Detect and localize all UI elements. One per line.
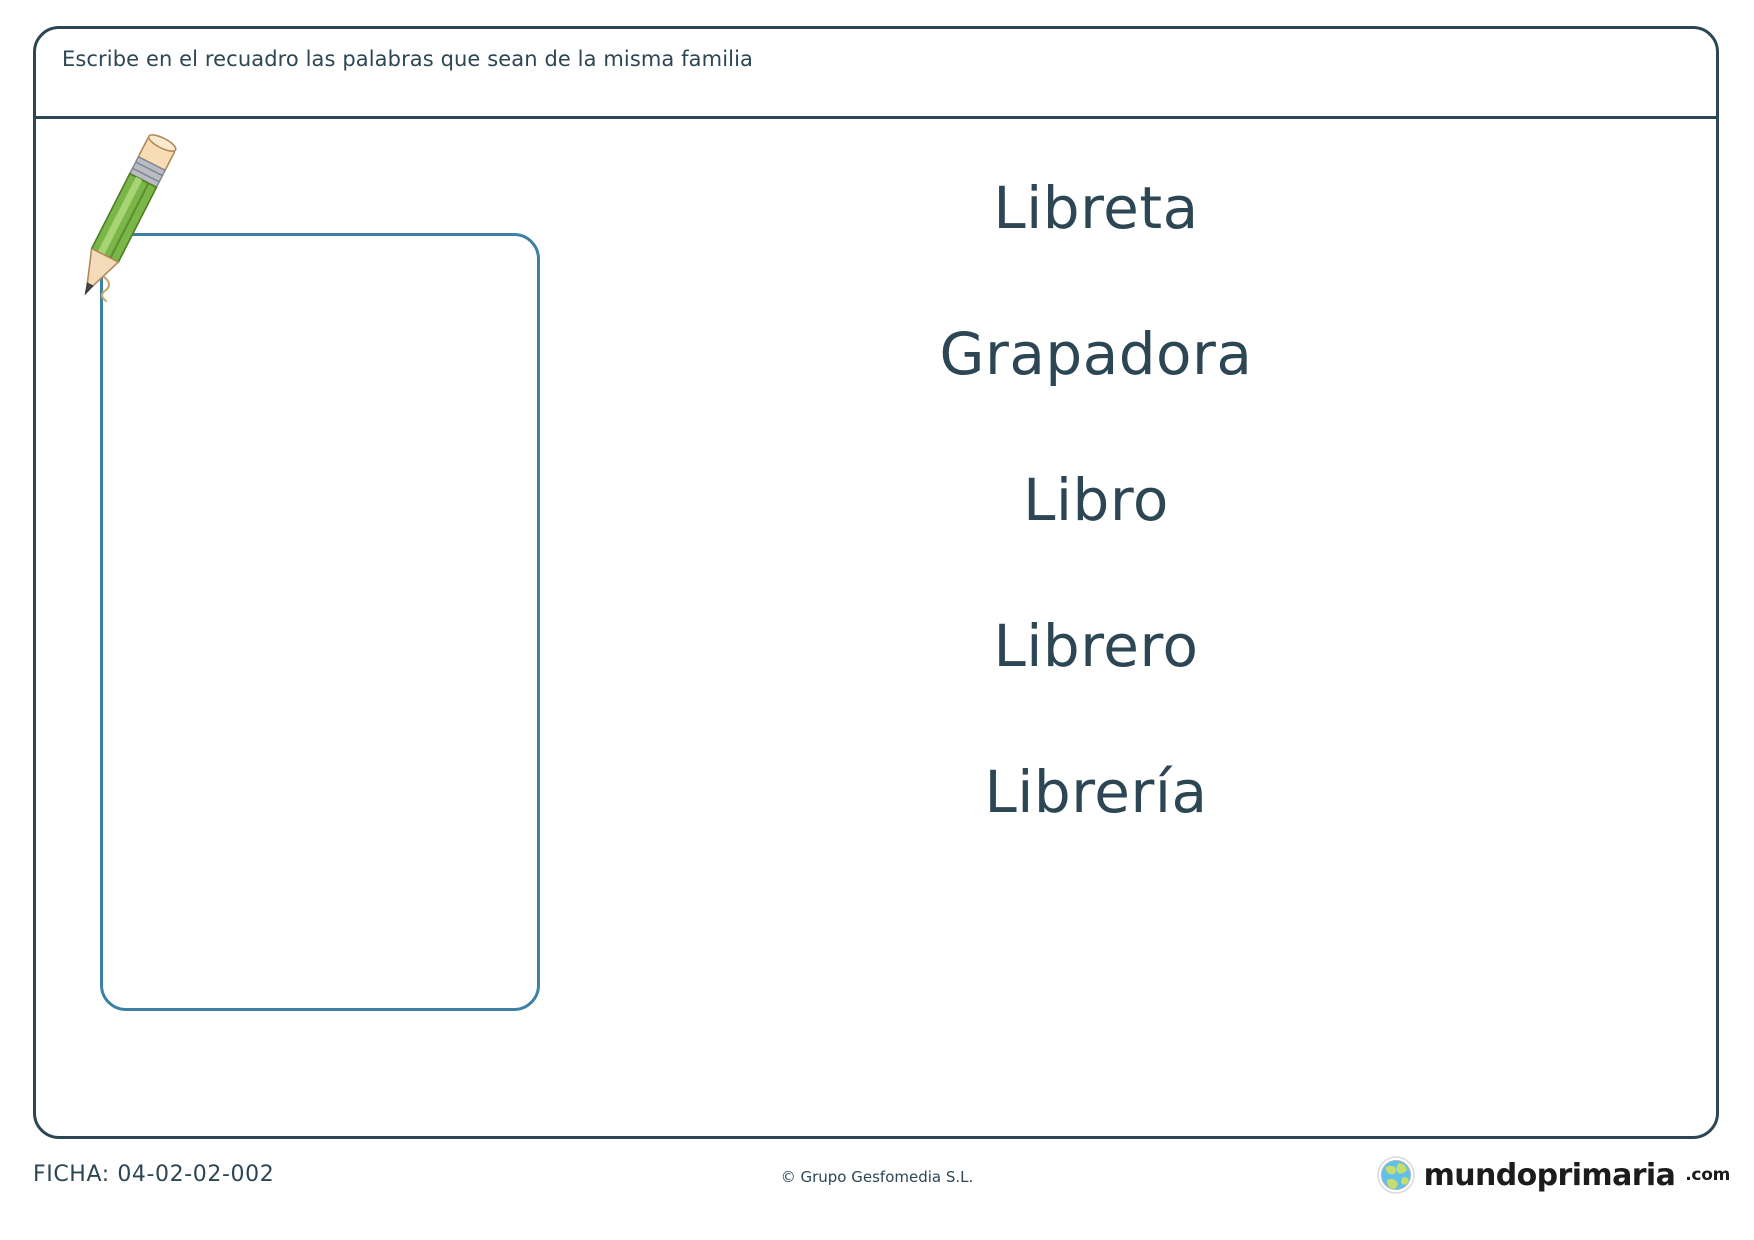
- worksheet-frame: Escribe en el recuadro las palabras que …: [33, 26, 1719, 1139]
- word-item[interactable]: Libro: [1023, 471, 1169, 529]
- answer-box[interactable]: [100, 233, 540, 1011]
- brand-tld: .com: [1685, 1165, 1730, 1185]
- word-item[interactable]: Grapadora: [940, 325, 1253, 383]
- globe-icon: [1377, 1156, 1415, 1194]
- word-item[interactable]: Libreta: [993, 179, 1198, 237]
- instruction-band: Escribe en el recuadro las palabras que …: [36, 29, 1716, 119]
- word-item[interactable]: Librero: [993, 617, 1198, 675]
- footer: FICHA: 04-02-02-002 © Grupo Gesfomedia S…: [0, 1152, 1754, 1212]
- word-item[interactable]: Librería: [984, 763, 1207, 821]
- brand-name: mundoprimaria: [1424, 1158, 1676, 1193]
- brand-logo[interactable]: mundoprimaria .com: [1377, 1156, 1730, 1194]
- worksheet-body: Libreta Grapadora Libro Librero Librería: [36, 119, 1716, 1139]
- word-list: Libreta Grapadora Libro Librero Librería: [696, 179, 1496, 821]
- instruction-text: Escribe en el recuadro las palabras que …: [62, 47, 753, 72]
